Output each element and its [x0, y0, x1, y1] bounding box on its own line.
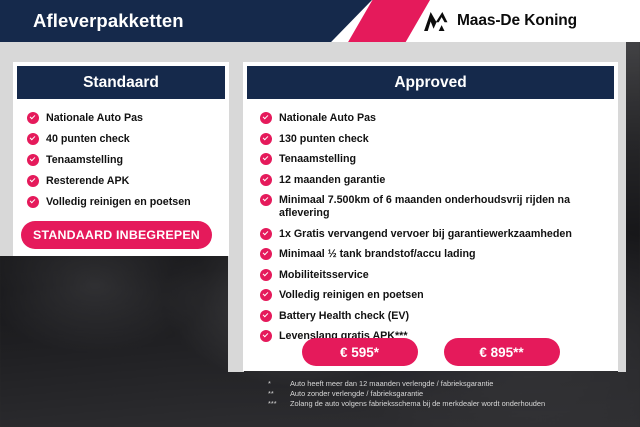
feature-list-standaard: Nationale Auto Pas 40 punten check Tenaa…: [13, 99, 229, 209]
footnote-row: *** Zolang de auto volgens fabrieksschem…: [268, 399, 628, 409]
feature-label: Nationale Auto Pas: [46, 112, 143, 125]
list-item: Battery Health check (EV): [260, 310, 610, 323]
check-circle-icon: [260, 248, 272, 260]
footnote-text: Auto zonder verlengde / fabrieksgarantie: [290, 389, 628, 399]
card-title-approved: Approved: [247, 66, 614, 99]
list-item: 1x Gratis vervangend vervoer bij garanti…: [260, 228, 610, 241]
check-circle-icon: [27, 154, 39, 166]
price-button-595[interactable]: € 595*: [302, 338, 418, 366]
list-item: Minimaal 7.500km of 6 maanden onderhouds…: [260, 194, 610, 220]
footnote-text: Zolang de auto volgens fabrieksschema bi…: [290, 399, 628, 409]
package-card-approved: Approved Nationale Auto Pas 130 punten c…: [243, 62, 618, 371]
content-panel-left-strip: [0, 42, 14, 256]
feature-label: Nationale Auto Pas: [279, 112, 376, 125]
footnote-marker: **: [268, 389, 290, 399]
list-item: Volledig reinigen en poetsen: [27, 196, 229, 209]
check-circle-icon: [260, 228, 272, 240]
list-item: Volledig reinigen en poetsen: [260, 289, 610, 302]
feature-label: Mobiliteitsservice: [279, 269, 369, 282]
feature-label: Battery Health check (EV): [279, 310, 409, 323]
list-item: 12 maanden garantie: [260, 174, 610, 187]
check-circle-icon: [260, 153, 272, 165]
check-circle-icon: [27, 112, 39, 124]
maas-de-koning-m-logo-icon: [424, 12, 449, 31]
feature-label: Tenaamstelling: [279, 153, 356, 166]
feature-label: 12 maanden garantie: [279, 174, 385, 187]
list-item: 130 punten check: [260, 133, 610, 146]
content-panel-middle-strip: [228, 42, 244, 372]
feature-label: 40 punten check: [46, 133, 130, 146]
check-circle-icon: [260, 174, 272, 186]
check-circle-icon: [27, 133, 39, 145]
footnote-row: ** Auto zonder verlengde / fabrieksgaran…: [268, 389, 628, 399]
check-circle-icon: [27, 196, 39, 208]
feature-label: Tenaamstelling: [46, 154, 123, 167]
price-button-895[interactable]: € 895**: [444, 338, 560, 366]
feature-list-approved: Nationale Auto Pas 130 punten check Tena…: [243, 99, 618, 343]
footnote-marker: ***: [268, 399, 290, 409]
footnote-text: Auto heeft meer dan 12 maanden verlengde…: [290, 379, 628, 389]
check-circle-icon: [260, 133, 272, 145]
footnote-marker: *: [268, 379, 290, 389]
feature-label: 1x Gratis vervangend vervoer bij garanti…: [279, 228, 572, 241]
feature-label: Minimaal ½ tank brandstof/accu lading: [279, 248, 476, 261]
header-bar: Afleverpakketten Maas-De Koning: [0, 0, 640, 42]
brand-logo: Maas-De Koning: [424, 0, 577, 42]
feature-label: Volledig reinigen en poetsen: [46, 196, 191, 209]
check-circle-icon: [260, 112, 272, 124]
standaard-inbegrepen-button[interactable]: STANDAARD INBEGREPEN: [21, 221, 212, 249]
price-button-group: € 595* € 895**: [243, 338, 618, 367]
check-circle-icon: [260, 269, 272, 281]
check-circle-icon: [27, 175, 39, 187]
list-item: Mobiliteitsservice: [260, 269, 610, 282]
content-panel-strip: [0, 42, 626, 64]
list-item: Tenaamstelling: [260, 153, 610, 166]
feature-label: Volledig reinigen en poetsen: [279, 289, 424, 302]
footnote-row: * Auto heeft meer dan 12 maanden verleng…: [268, 379, 628, 389]
brand-name: Maas-De Koning: [457, 12, 577, 30]
content-panel-right-strip: [618, 42, 626, 372]
list-item: Tenaamstelling: [27, 154, 229, 167]
page-title: Afleverpakketten: [33, 0, 184, 42]
list-item: Nationale Auto Pas: [260, 112, 610, 125]
feature-label: Minimaal 7.500km of 6 maanden onderhouds…: [279, 194, 610, 220]
check-circle-icon: [260, 194, 272, 206]
list-item: 40 punten check: [27, 133, 229, 146]
list-item: Resterende APK: [27, 175, 229, 188]
card-title-standaard: Standaard: [17, 66, 225, 99]
feature-label: Resterende APK: [46, 175, 129, 188]
feature-label: 130 punten check: [279, 133, 369, 146]
footnotes: * Auto heeft meer dan 12 maanden verleng…: [268, 379, 628, 410]
list-item: Nationale Auto Pas: [27, 112, 229, 125]
check-circle-icon: [260, 310, 272, 322]
check-circle-icon: [260, 289, 272, 301]
list-item: Minimaal ½ tank brandstof/accu lading: [260, 248, 610, 261]
